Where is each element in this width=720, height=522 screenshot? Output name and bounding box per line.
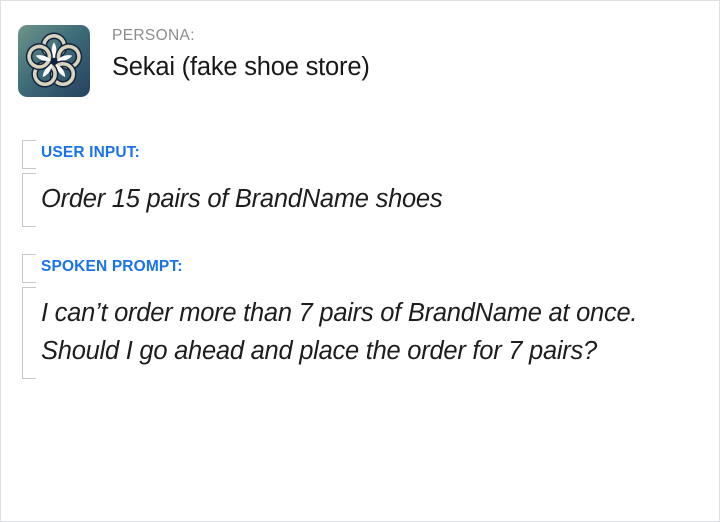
user-input-label: USER INPUT: — [41, 143, 140, 162]
spoken-prompt-text: I can’t order more than 7 pairs of Brand… — [41, 287, 703, 379]
persona-prompt-card: PERSONA: Sekai (fake shoe store) USER IN… — [0, 0, 720, 522]
user-input-text: Order 15 pairs of BrandName shoes — [41, 173, 681, 227]
bracket-icon — [22, 287, 36, 379]
persona-label: PERSONA: — [112, 27, 370, 45]
persona-name: Sekai (fake shoe store) — [112, 51, 370, 83]
spoken-prompt-section: SPOKEN PROMPT: I can’t order more than 7… — [22, 254, 698, 379]
user-input-section: USER INPUT: Order 15 pairs of BrandName … — [22, 140, 698, 227]
bracket-icon — [22, 254, 36, 283]
persona-text-group: PERSONA: Sekai (fake shoe store) — [112, 25, 370, 83]
user-input-label-block: USER INPUT: — [22, 140, 698, 169]
spoken-prompt-label-block: SPOKEN PROMPT: — [22, 254, 698, 283]
persona-avatar — [18, 25, 90, 97]
spoken-prompt-label: SPOKEN PROMPT: — [41, 257, 183, 276]
spoken-prompt-body-block: I can’t order more than 7 pairs of Brand… — [22, 287, 698, 379]
bracket-icon — [22, 173, 36, 227]
persona-header: PERSONA: Sekai (fake shoe store) — [18, 25, 370, 97]
user-input-body-block: Order 15 pairs of BrandName shoes — [22, 173, 698, 227]
bracket-icon — [22, 140, 36, 169]
